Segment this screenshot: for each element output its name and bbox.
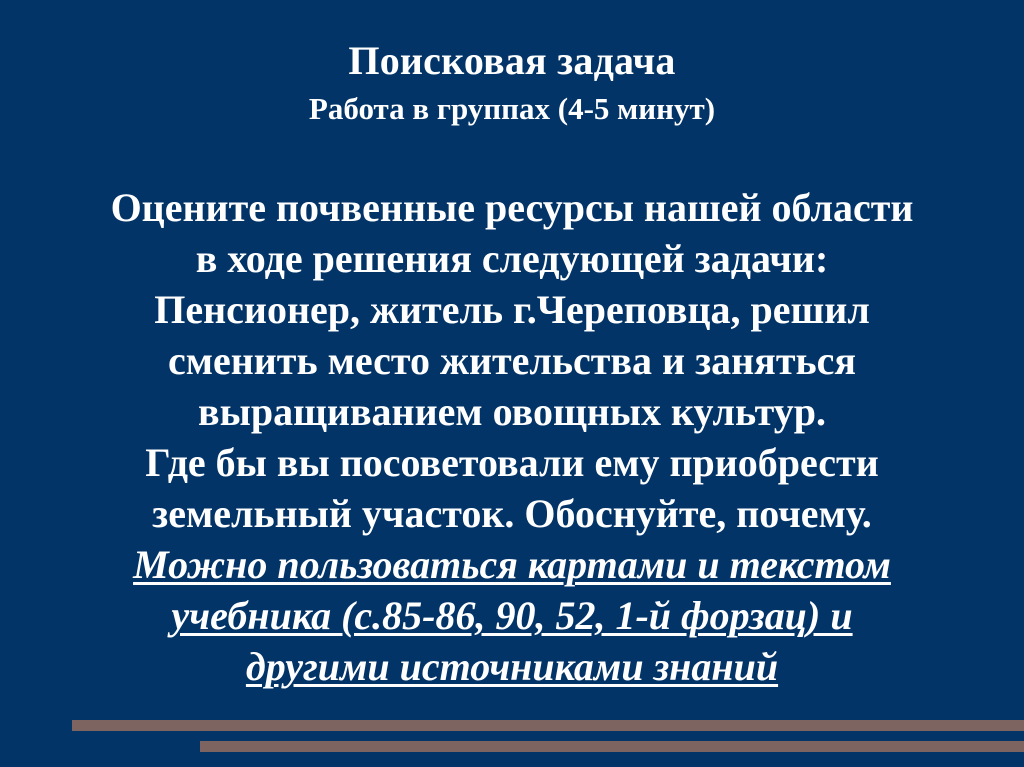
slide-body: Оцените почвенные ресурсы нашей области … (12, 182, 1012, 692)
body-line-emphasis: другими источниками знаний (12, 641, 1012, 692)
body-line: сменить место жительства и заняться (12, 335, 1012, 386)
body-line: земельный участок. Обоснуйте, почему. (12, 488, 1012, 539)
presentation-slide: Поисковая задача Работа в группах (4-5 м… (0, 0, 1024, 767)
upper-accent-bar (72, 720, 1024, 731)
body-line: Пенсионер, житель г.Череповца, решил (12, 284, 1012, 335)
body-line: Оцените почвенные ресурсы нашей области (12, 182, 1012, 233)
slide-header: Поисковая задача Работа в группах (4-5 м… (0, 38, 1024, 128)
slide-subtitle: Работа в группах (4-5 минут) (0, 90, 1024, 128)
body-line: выращиванием овощных культур. (12, 386, 1012, 437)
body-line: в ходе решения следующей задачи: (12, 233, 1012, 284)
lower-accent-bar (200, 741, 1024, 752)
body-line: Где бы вы посоветовали ему приобрести (12, 437, 1012, 488)
body-line-emphasis: учебника (с.85-86, 90, 52, 1-й форзац) и (12, 590, 1012, 641)
slide-title: Поисковая задача (0, 38, 1024, 84)
body-line-emphasis: Можно пользоваться картами и текстом (12, 539, 1012, 590)
